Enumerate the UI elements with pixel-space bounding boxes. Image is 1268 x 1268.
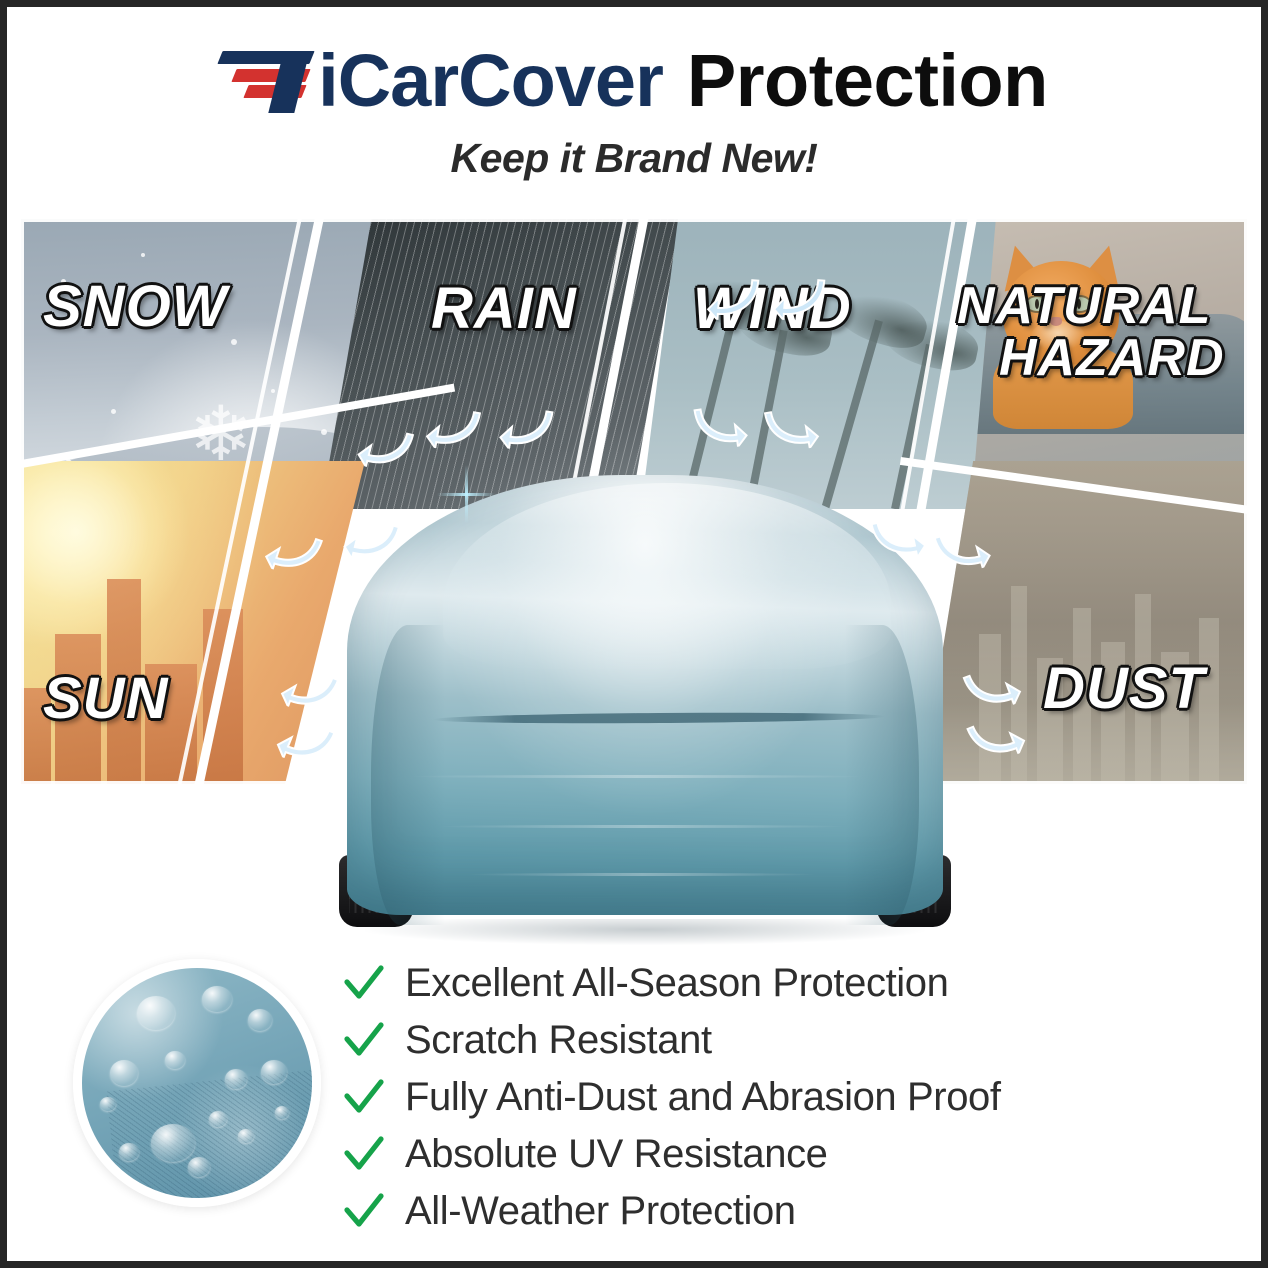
curved-deflection-arrow-icon <box>423 401 484 456</box>
list-item: Excellent All-Season Protection <box>343 955 1203 1012</box>
curved-deflection-arrow-icon <box>690 399 750 452</box>
tagline: Keep it Brand New! <box>7 135 1261 182</box>
shine-sparkle-icon <box>437 465 495 523</box>
panel-label-rain: RAIN <box>431 281 577 338</box>
green-checkmark-icon <box>343 1077 385 1119</box>
panel-label-natural-hazard-line1: NATURAL <box>957 281 1211 332</box>
feature-label: Scratch Resistant <box>405 1018 712 1063</box>
brand-headline: iCarCover Protection <box>7 33 1261 129</box>
panel-label-natural-hazard-line2: HAZARD <box>999 333 1225 384</box>
green-checkmark-icon <box>343 963 385 1005</box>
car-cover-roof-highlight <box>443 483 891 669</box>
list-item: Fully Anti-Dust and Abrasion Proof <box>343 1069 1203 1126</box>
panel-label-snow: SNOW <box>43 279 227 336</box>
curved-deflection-arrow-icon <box>771 273 828 323</box>
water-beading-fabric-swatch <box>73 959 321 1207</box>
list-item: Scratch Resistant <box>343 1012 1203 1069</box>
car-cover-hood-seam <box>433 711 885 724</box>
car-ground-shadow <box>365 919 925 945</box>
list-item: All-Weather Protection <box>343 1183 1203 1240</box>
curved-deflection-arrow-icon <box>760 401 821 456</box>
list-item: Absolute UV Resistance <box>343 1126 1203 1183</box>
feature-list: Excellent All-Season Protection Scratch … <box>343 955 1203 1240</box>
car-with-cover-image <box>325 435 965 945</box>
green-checkmark-icon <box>343 1134 385 1176</box>
poster-header: iCarCover Protection Keep it Brand New! <box>7 33 1261 182</box>
green-checkmark-icon <box>343 1191 385 1233</box>
feature-label: Absolute UV Resistance <box>405 1132 828 1177</box>
headline-suffix: Protection <box>687 44 1048 118</box>
curved-deflection-arrow-icon <box>497 401 557 454</box>
curved-deflection-arrow-icon <box>705 273 762 323</box>
green-checkmark-icon <box>343 1020 385 1062</box>
fabric-weave-texture <box>106 1066 321 1207</box>
icarcover-flag-emblem-icon <box>220 49 316 113</box>
feature-label: All-Weather Protection <box>405 1189 796 1234</box>
car-cover-body <box>347 475 943 915</box>
brand-name: iCarCover <box>318 44 663 118</box>
panel-label-sun: SUN <box>43 671 168 728</box>
feature-label: Excellent All-Season Protection <box>405 961 948 1006</box>
sun-glow-icon <box>21 461 191 647</box>
panel-label-dust: DUST <box>1043 661 1205 718</box>
product-infographic-poster: iCarCover Protection Keep it Brand New! … <box>0 0 1268 1268</box>
feature-label: Fully Anti-Dust and Abrasion Proof <box>405 1075 1001 1120</box>
